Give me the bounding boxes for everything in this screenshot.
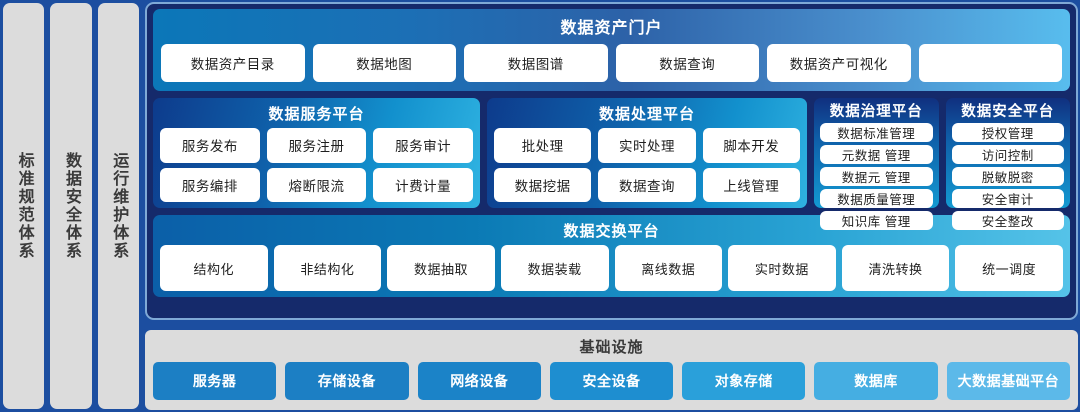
exchange-item-structured[interactable]: 结构化	[160, 245, 268, 291]
sidebar-item-data-security[interactable]: 数据安全体系	[50, 3, 91, 409]
infra-item-object-storage[interactable]: 对象存储	[682, 362, 805, 400]
service-platform-title: 数据服务平台	[160, 102, 473, 128]
exchange-platform-title: 数据交换平台	[160, 219, 1063, 245]
process-item-mining[interactable]: 数据挖据	[494, 168, 591, 203]
service-item-circuit-breaker[interactable]: 熔断限流	[267, 168, 367, 203]
infra-item-network[interactable]: 网络设备	[418, 362, 541, 400]
process-platform-row-1: 批处理 实时处理 脚本开发	[494, 128, 800, 163]
governance-item-data-element[interactable]: 数据元 管理	[820, 167, 933, 186]
service-platform-row-1: 服务发布 服务注册 服务审计	[160, 128, 473, 163]
governance-item-data-quality[interactable]: 数据质量管理	[820, 189, 933, 208]
main-architecture-area: 数据资产门户 数据资产目录 数据地图 数据图谱 数据查询 数据资产可视化 数据服…	[145, 0, 1080, 412]
security-platform-title: 数据安全平台	[952, 101, 1065, 123]
exchange-item-extract[interactable]: 数据抽取	[387, 245, 495, 291]
data-processing-platform-section: 数据处理平台 批处理 实时处理 脚本开发 数据挖据 数据查询 上线管理	[487, 98, 807, 208]
security-item-authorization[interactable]: 授权管理	[952, 123, 1065, 142]
security-item-desensitization[interactable]: 脱敏脱密	[952, 167, 1065, 186]
security-item-audit[interactable]: 安全审计	[952, 189, 1065, 208]
portal-title: 数据资产门户	[161, 14, 1062, 44]
portal-item-visualization[interactable]: 数据资产可视化	[767, 44, 911, 82]
exchange-item-realtime-data[interactable]: 实时数据	[728, 245, 836, 291]
portal-item-catalog[interactable]: 数据资产目录	[161, 44, 305, 82]
infra-item-security-device[interactable]: 安全设备	[550, 362, 673, 400]
sidebar-item-label: 标准规范体系	[15, 152, 33, 260]
service-item-audit[interactable]: 服务审计	[373, 128, 473, 163]
vertical-sidebars: 标准规范体系 数据安全体系 运行维护体系	[3, 3, 139, 409]
exchange-item-list: 结构化 非结构化 数据抽取 数据装载 离线数据 实时数据 清洗转换 统一调度	[160, 245, 1063, 291]
service-platform-grid: 服务发布 服务注册 服务审计 服务编排 熔断限流 计费计量	[160, 128, 473, 202]
data-asset-portal-section: 数据资产门户 数据资产目录 数据地图 数据图谱 数据查询 数据资产可视化	[153, 9, 1070, 91]
data-exchange-platform-section: 数据交换平台 结构化 非结构化 数据抽取 数据装载 离线数据 实时数据 清洗转换…	[153, 215, 1070, 297]
service-platform-row-2: 服务编排 熔断限流 计费计量	[160, 168, 473, 203]
portal-item-map[interactable]: 数据地图	[313, 44, 457, 82]
data-governance-platform-section: 数据治理平台 数据标准管理 元数据 管理 数据元 管理 数据质量管理 知识库 管…	[814, 98, 939, 208]
service-item-publish[interactable]: 服务发布	[160, 128, 260, 163]
infra-item-server[interactable]: 服务器	[153, 362, 276, 400]
exchange-item-unstructured[interactable]: 非结构化	[274, 245, 382, 291]
exchange-row: 数据交换平台 结构化 非结构化 数据抽取 数据装载 离线数据 实时数据 清洗转换…	[153, 215, 1070, 297]
process-item-release-mgmt[interactable]: 上线管理	[703, 168, 800, 203]
data-security-platform-section: 数据安全平台 授权管理 访问控制 脱敏脱密 安全审计 安全整改	[946, 98, 1071, 208]
sidebar-item-operations[interactable]: 运行维护体系	[98, 3, 139, 409]
infra-item-database[interactable]: 数据库	[814, 362, 937, 400]
portal-item-query[interactable]: 数据查询	[616, 44, 760, 82]
security-item-access-control[interactable]: 访问控制	[952, 145, 1065, 164]
governance-platform-title: 数据治理平台	[820, 101, 933, 123]
infra-item-storage[interactable]: 存储设备	[285, 362, 408, 400]
process-platform-title: 数据处理平台	[494, 102, 800, 128]
process-platform-grid: 批处理 实时处理 脚本开发 数据挖据 数据查询 上线管理	[494, 128, 800, 202]
exchange-item-load[interactable]: 数据装载	[501, 245, 609, 291]
platform-stack-frame: 数据资产门户 数据资产目录 数据地图 数据图谱 数据查询 数据资产可视化 数据服…	[145, 2, 1078, 320]
process-platform-row-2: 数据挖据 数据查询 上线管理	[494, 168, 800, 203]
service-item-orchestration[interactable]: 服务编排	[160, 168, 260, 203]
portal-item-graph[interactable]: 数据图谱	[464, 44, 608, 82]
process-item-realtime[interactable]: 实时处理	[598, 128, 695, 163]
governance-item-data-standard[interactable]: 数据标准管理	[820, 123, 933, 142]
infra-item-bigdata-platform[interactable]: 大数据基础平台	[947, 362, 1070, 400]
sidebar-item-label: 数据安全体系	[62, 152, 80, 260]
infrastructure-section: 基础设施 服务器 存储设备 网络设备 安全设备 对象存储 数据库 大数据基础平台	[145, 330, 1078, 410]
governance-item-list: 数据标准管理 元数据 管理 数据元 管理 数据质量管理 知识库 管理	[820, 123, 933, 230]
governance-item-metadata[interactable]: 元数据 管理	[820, 145, 933, 164]
portal-item-list: 数据资产目录 数据地图 数据图谱 数据查询 数据资产可视化	[161, 44, 1062, 84]
exchange-item-offline-data[interactable]: 离线数据	[615, 245, 723, 291]
portal-item-empty[interactable]	[919, 44, 1063, 82]
infrastructure-item-list: 服务器 存储设备 网络设备 安全设备 对象存储 数据库 大数据基础平台	[153, 362, 1070, 402]
security-item-list: 授权管理 访问控制 脱敏脱密 安全审计 安全整改	[952, 123, 1065, 230]
sidebar-item-label: 运行维护体系	[109, 152, 127, 260]
service-item-register[interactable]: 服务注册	[267, 128, 367, 163]
sidebar-item-standards[interactable]: 标准规范体系	[3, 3, 44, 409]
process-item-query[interactable]: 数据查询	[598, 168, 695, 203]
exchange-item-cleansing[interactable]: 清洗转换	[842, 245, 950, 291]
infrastructure-title: 基础设施	[153, 334, 1070, 362]
exchange-item-scheduling[interactable]: 统一调度	[955, 245, 1063, 291]
process-item-script-dev[interactable]: 脚本开发	[703, 128, 800, 163]
service-item-billing[interactable]: 计费计量	[373, 168, 473, 203]
data-service-platform-section: 数据服务平台 服务发布 服务注册 服务审计 服务编排 熔断限流 计费计量	[153, 98, 480, 208]
process-item-batch[interactable]: 批处理	[494, 128, 591, 163]
platform-row: 数据服务平台 服务发布 服务注册 服务审计 服务编排 熔断限流 计费计量	[153, 98, 1070, 208]
